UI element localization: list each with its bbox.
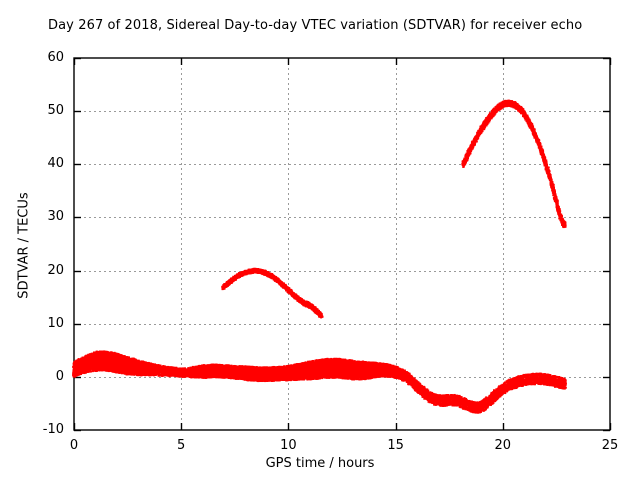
x-tick-label: 5 xyxy=(151,439,211,452)
y-tick-label: 0 xyxy=(10,370,64,383)
chart-figure: Day 267 of 2018, Sidereal Day-to-day VTE… xyxy=(0,0,640,480)
x-tick-label: 25 xyxy=(580,439,640,452)
x-tick-label: 20 xyxy=(473,439,533,452)
y-tick-label: 60 xyxy=(10,51,64,64)
data-series-group xyxy=(72,100,567,414)
series-mid-arc xyxy=(221,268,323,319)
x-axis-label: GPS time / hours xyxy=(0,456,640,471)
y-tick-label: 50 xyxy=(10,104,64,117)
y-tick-label: -10 xyxy=(10,423,64,436)
plot-canvas xyxy=(0,0,640,480)
series-right-arc xyxy=(461,100,566,228)
x-tick-label: 10 xyxy=(258,439,318,452)
series-main-band xyxy=(72,350,567,413)
x-tick-label: 15 xyxy=(366,439,426,452)
y-axis-label: SDTVAR / TECUs xyxy=(17,166,32,326)
x-tick-label: 0 xyxy=(44,439,104,452)
